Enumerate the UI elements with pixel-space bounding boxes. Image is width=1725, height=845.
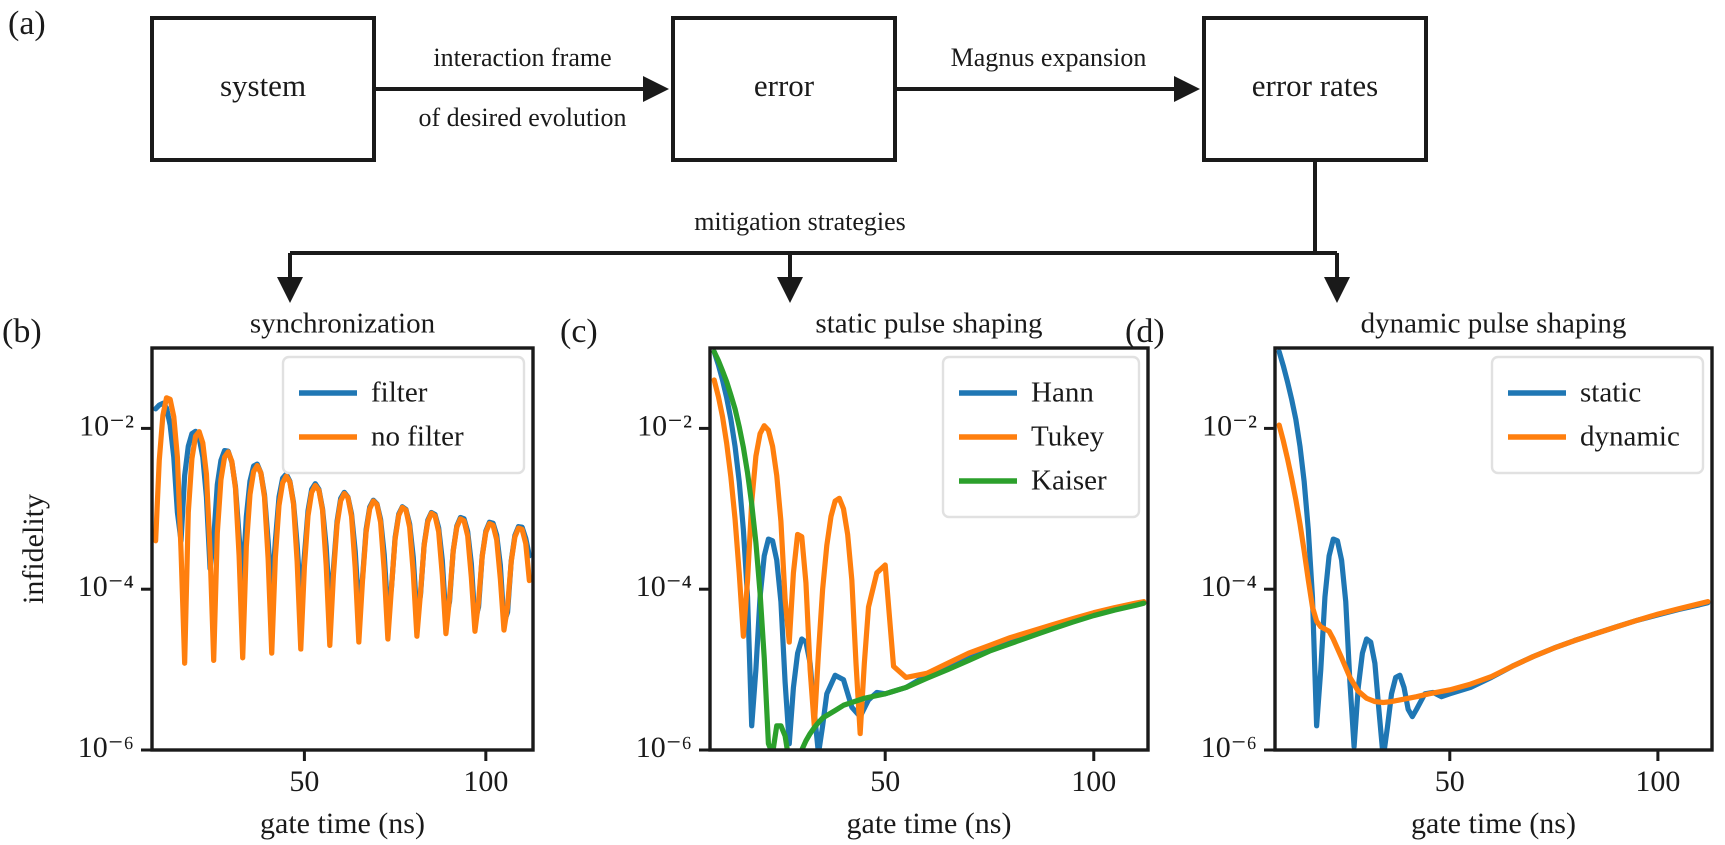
flow-box-error-rates: error rates bbox=[1204, 18, 1426, 160]
flow-arrow-head-system-to-error bbox=[643, 76, 669, 102]
panel-b-legend: filterno filter bbox=[283, 357, 524, 473]
panel-d-xticklabel-1: 100 bbox=[1635, 765, 1680, 798]
flow-box-label-system: system bbox=[220, 68, 306, 103]
panel-b-yticklabel-0: 10⁻⁶ bbox=[78, 731, 134, 764]
flow-diagram: (a)systemerrorerror ratesinteraction fra… bbox=[8, 5, 1426, 303]
panel-b-legend-box bbox=[283, 357, 524, 473]
panel-c-yticklabel-2: 10⁻² bbox=[637, 409, 692, 442]
panel-d-legend: staticdynamic bbox=[1492, 357, 1703, 473]
flow-arrow-head-error-to-rates bbox=[1174, 76, 1200, 102]
mitigation-bus: mitigation strategies bbox=[277, 162, 1350, 303]
mitigation-label: mitigation strategies bbox=[694, 207, 906, 236]
panel-b-yticklabel-2: 10⁻² bbox=[79, 409, 134, 442]
mitigation-branch-arrow-1 bbox=[777, 277, 803, 303]
panel-b-xticklabel-1: 100 bbox=[463, 765, 508, 798]
panel-b-yticklabel-1: 10⁻⁴ bbox=[78, 570, 134, 603]
panel-c-yticklabel-0: 10⁻⁶ bbox=[636, 731, 692, 764]
panel-c-yticklabel-1: 10⁻⁴ bbox=[636, 570, 692, 603]
panel-d-legend-label-0: static bbox=[1580, 377, 1641, 409]
panel-c-xlabel: gate time (ns) bbox=[847, 807, 1012, 840]
figure-root: (a)systemerrorerror ratesinteraction fra… bbox=[0, 0, 1725, 845]
panel-c-xticklabel-1: 100 bbox=[1071, 765, 1116, 798]
mitigation-branch-arrow-2 bbox=[1324, 277, 1350, 303]
mitigation-branch-arrow-0 bbox=[277, 277, 303, 303]
panel-d-title: dynamic pulse shaping bbox=[1361, 308, 1627, 340]
flow-arrow-system-to-error: interaction frameof desired evolution bbox=[376, 43, 669, 132]
panel-c-xticklabel-0: 50 bbox=[870, 765, 900, 798]
panel-c-title: static pulse shaping bbox=[815, 308, 1042, 340]
panel-d-yticklabel-1: 10⁻⁴ bbox=[1201, 570, 1257, 603]
panel-c-legend: HannTukeyKaiser bbox=[943, 357, 1139, 517]
flow-box-label-error: error bbox=[754, 68, 815, 103]
panel-d-legend-box bbox=[1492, 357, 1703, 473]
panel-b-legend-label-1: no filter bbox=[371, 421, 464, 453]
flow-arrow-error-to-rates: Magnus expansion bbox=[897, 43, 1200, 102]
flow-arrow-label2-system-to-error: of desired evolution bbox=[419, 103, 627, 132]
panel-b-xticklabel-0: 50 bbox=[289, 765, 319, 798]
chart-panel-c: (c)static pulse shaping5010010⁻⁶10⁻⁴10⁻²… bbox=[560, 308, 1148, 840]
flow-box-error: error bbox=[673, 18, 895, 160]
flow-box-label-error-rates: error rates bbox=[1252, 68, 1379, 103]
panel-b-title: synchronization bbox=[250, 308, 436, 340]
chart-panel-b: (b)synchronization5010010⁻⁶10⁻⁴10⁻²gate … bbox=[2, 308, 533, 840]
panel-a-letter: (a) bbox=[8, 5, 46, 42]
panel-d-legend-label-1: dynamic bbox=[1580, 421, 1680, 453]
flow-box-system: system bbox=[152, 18, 374, 160]
panel-d-xticklabel-0: 50 bbox=[1435, 765, 1465, 798]
panel-b-ylabel: infidelity bbox=[17, 494, 50, 604]
flow-arrow-label1-system-to-error: interaction frame bbox=[433, 43, 611, 72]
panel-c-legend-label-2: Kaiser bbox=[1031, 465, 1107, 497]
panel-d-yticklabel-2: 10⁻² bbox=[1202, 409, 1257, 442]
panel-b-xlabel: gate time (ns) bbox=[260, 807, 425, 840]
panel-c-legend-label-1: Tukey bbox=[1031, 421, 1105, 453]
panel-b-letter: (b) bbox=[2, 313, 42, 350]
panel-c-legend-label-0: Hann bbox=[1031, 377, 1094, 409]
chart-panel-d: (d)dynamic pulse shaping5010010⁻⁶10⁻⁴10⁻… bbox=[1125, 308, 1712, 840]
panel-c-letter: (c) bbox=[560, 313, 598, 350]
flow-arrow-label1-error-to-rates: Magnus expansion bbox=[951, 43, 1147, 72]
figure-canvas: (a)systemerrorerror ratesinteraction fra… bbox=[0, 0, 1725, 845]
panel-b-legend-label-0: filter bbox=[371, 377, 428, 409]
panel-d-yticklabel-0: 10⁻⁶ bbox=[1201, 731, 1257, 764]
panel-d-xlabel: gate time (ns) bbox=[1411, 807, 1576, 840]
panel-d-letter: (d) bbox=[1125, 313, 1165, 350]
